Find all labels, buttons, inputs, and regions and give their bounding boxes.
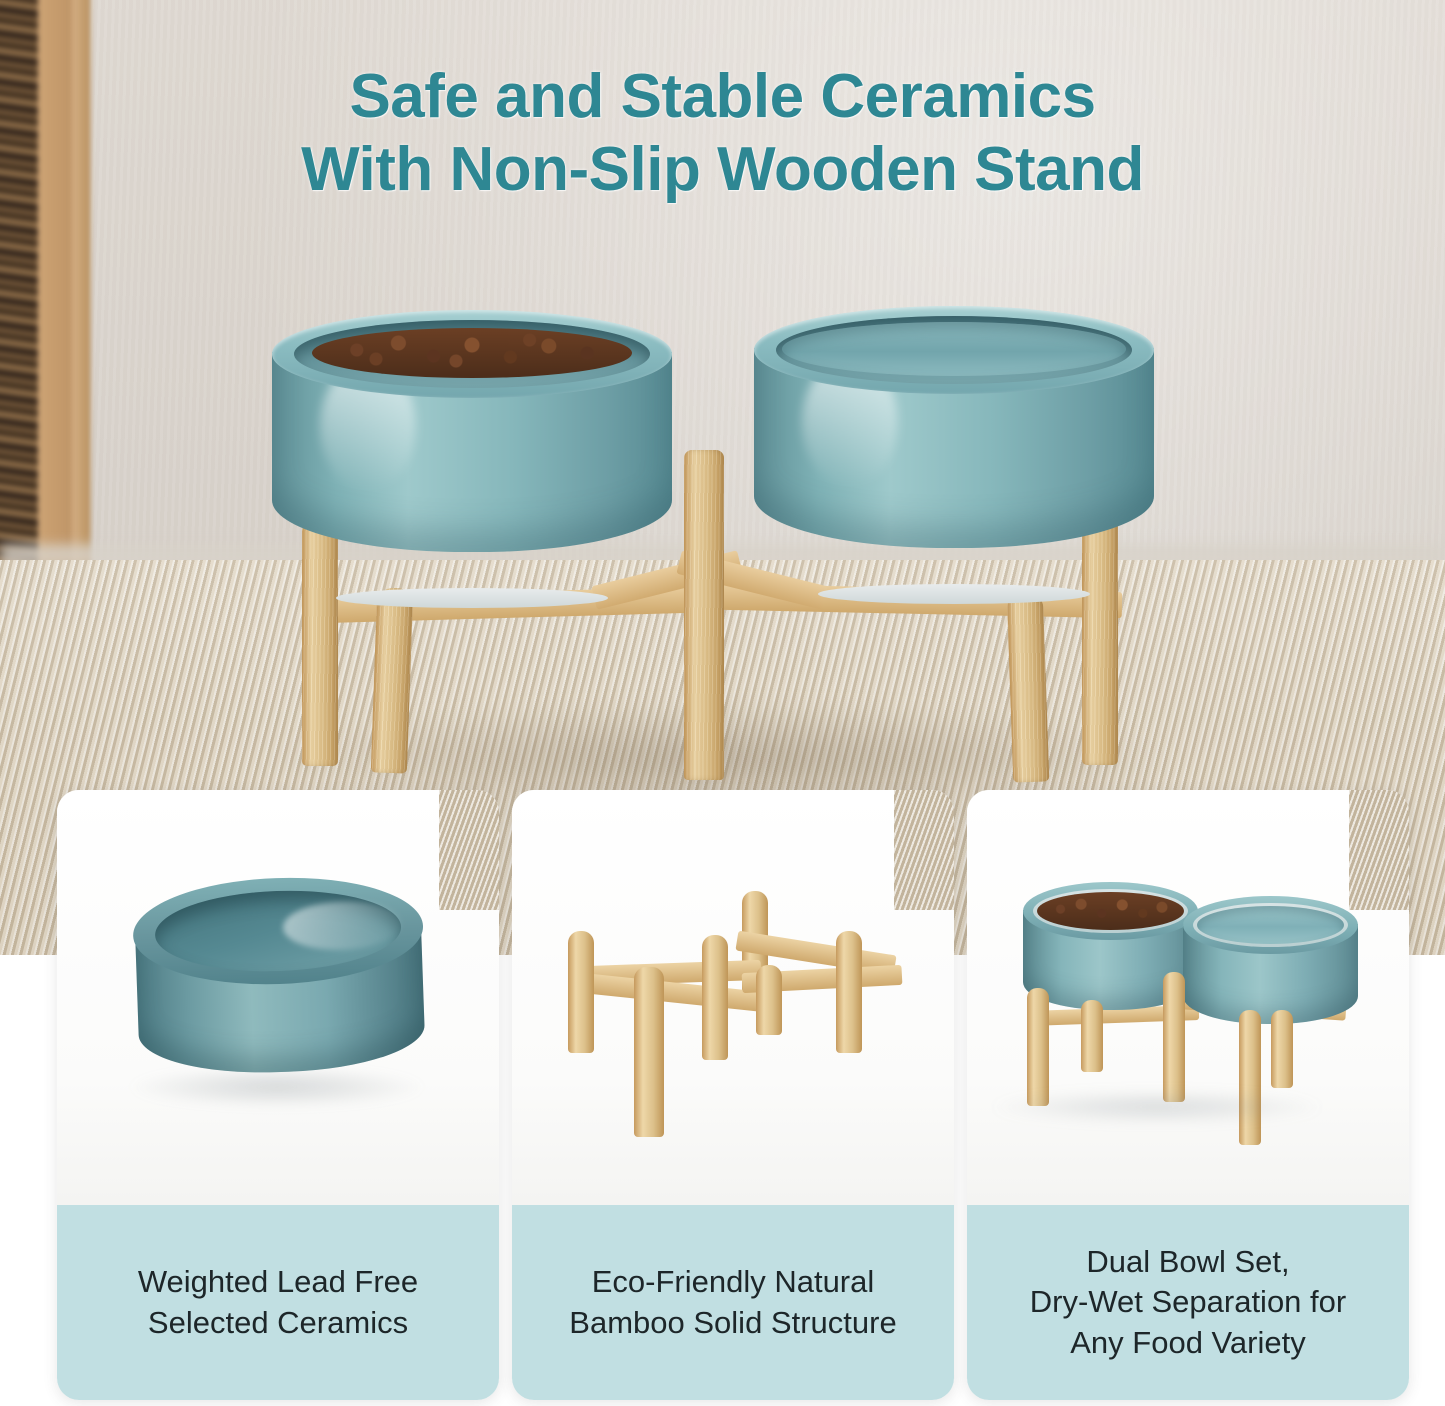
bowl-base-ring (818, 584, 1090, 604)
stand-leg-front-left (1027, 988, 1049, 1106)
bamboo-grain (1007, 591, 1050, 782)
stand-leg-5 (836, 931, 862, 1053)
single-ceramic-bowl (131, 873, 428, 1098)
bamboo-stand-frame (546, 885, 926, 1135)
stand-leg-back-left (371, 587, 413, 773)
headline-line-1: Safe and Stable Ceramics (349, 62, 1095, 131)
stand-leg-center (1163, 972, 1185, 1102)
hero-product-assembly (262, 300, 1182, 770)
stand-leg-back-right (1007, 591, 1050, 782)
page-title: Safe and Stable Ceramics With Non-Slip W… (0, 60, 1445, 206)
card-caption-strip: Dual Bowl Set, Dry-Wet Separation for An… (967, 1205, 1409, 1400)
feature-card-ceramics[interactable]: Weighted Lead Free Selected Ceramics (57, 790, 499, 1400)
card-image-stand (512, 790, 954, 1205)
water-surface (1197, 906, 1344, 944)
stand-leg-front-right (1239, 1010, 1261, 1145)
card-image-dual-set (967, 790, 1409, 1205)
stand-leg-3 (702, 935, 728, 1060)
hero-bowl-food (272, 310, 672, 600)
stand-leg-center (684, 450, 724, 780)
card-caption-strip: Weighted Lead Free Selected Ceramics (57, 1205, 499, 1400)
bamboo-grain (684, 450, 724, 780)
rug-corner-detail (439, 790, 499, 910)
stand-leg-2 (634, 967, 664, 1137)
bowl-water (1183, 896, 1358, 1031)
stand-leg-1 (568, 931, 594, 1053)
set-shadow (987, 1090, 1327, 1124)
card-image-single-bowl (57, 790, 499, 1205)
water-surface (782, 322, 1126, 376)
card-caption-text: Weighted Lead Free Selected Ceramics (138, 1262, 418, 1343)
headline-line-2: With Non-Slip Wooden Stand (301, 135, 1144, 204)
dry-kibble-food (1037, 892, 1184, 930)
bamboo-grain (371, 587, 413, 773)
stand-leg-4 (756, 965, 782, 1035)
hero-bowl-water (754, 306, 1154, 596)
feature-card-dual-set[interactable]: Dual Bowl Set, Dry-Wet Separation for An… (967, 790, 1409, 1400)
feature-card-row: Weighted Lead Free Selected Ceramics (0, 955, 1445, 1406)
card-caption-text: Dual Bowl Set, Dry-Wet Separation for An… (1030, 1242, 1346, 1363)
card-caption-strip: Eco-Friendly Natural Bamboo Solid Struct… (512, 1205, 954, 1400)
card-caption-text: Eco-Friendly Natural Bamboo Solid Struct… (569, 1262, 896, 1343)
bowl-base-ring (336, 588, 608, 608)
stand-leg-back-right (1271, 1010, 1293, 1088)
feature-card-bamboo[interactable]: Eco-Friendly Natural Bamboo Solid Struct… (512, 790, 954, 1400)
dry-kibble-food (312, 328, 632, 378)
stand-leg-back-left (1081, 1000, 1103, 1072)
